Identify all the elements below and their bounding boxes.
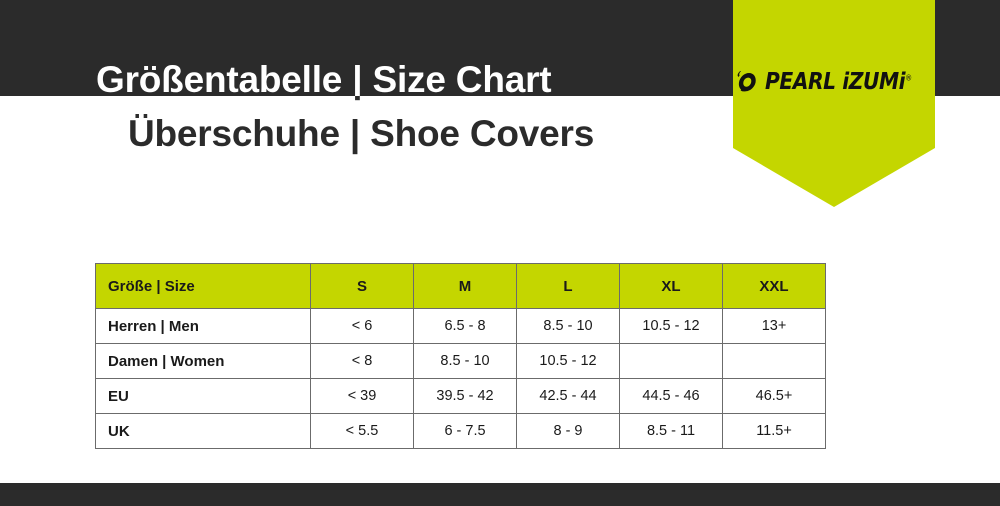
cell-uk-l: 8 - 9 xyxy=(517,414,620,449)
table-row: EU < 39 39.5 - 42 42.5 - 44 44.5 - 46 46… xyxy=(96,379,826,414)
cell-uk-s: < 5.5 xyxy=(311,414,414,449)
cell-men-l: 8.5 - 10 xyxy=(517,309,620,344)
size-chart-page: PEARL iZUMi® Größentabelle | Size Chart … xyxy=(0,0,1000,506)
title-block: Größentabelle | Size Chart Größentabelle… xyxy=(0,0,1000,180)
cell-eu-xl: 44.5 - 46 xyxy=(620,379,723,414)
cell-eu-xxl: 46.5+ xyxy=(723,379,826,414)
footer-dark-band xyxy=(0,483,1000,506)
table-header-cell-xl: XL xyxy=(620,264,723,309)
table-row: Damen | Women < 8 8.5 - 10 10.5 - 12 xyxy=(96,344,826,379)
table-header-cell-l: L xyxy=(517,264,620,309)
cell-women-l: 10.5 - 12 xyxy=(517,344,620,379)
cell-uk-xxl: 11.5+ xyxy=(723,414,826,449)
row-label-men: Herren | Men xyxy=(96,309,311,344)
table-header-row: Größe | Size S M L XL XXL xyxy=(96,264,826,309)
cell-eu-l: 42.5 - 44 xyxy=(517,379,620,414)
row-label-eu: EU xyxy=(96,379,311,414)
cell-women-xxl xyxy=(723,344,826,379)
table-header-cell-m: M xyxy=(414,264,517,309)
cell-uk-xl: 8.5 - 11 xyxy=(620,414,723,449)
cell-women-s: < 8 xyxy=(311,344,414,379)
table-row: Herren | Men < 6 6.5 - 8 8.5 - 10 10.5 -… xyxy=(96,309,826,344)
cell-women-m: 8.5 - 10 xyxy=(414,344,517,379)
size-chart-table: Größe | Size S M L XL XXL Herren | Men <… xyxy=(95,263,826,449)
table-header: Größe | Size S M L XL XXL xyxy=(96,264,826,309)
page-title-secondary: Überschuhe | Shoe Covers xyxy=(128,112,594,156)
table-header-cell-xxl: XXL xyxy=(723,264,826,309)
page-title-primary-white: Größentabelle | Size Chart xyxy=(96,58,551,102)
table-header-cell-s: S xyxy=(311,264,414,309)
cell-men-s: < 6 xyxy=(311,309,414,344)
row-label-women: Damen | Women xyxy=(96,344,311,379)
cell-eu-s: < 39 xyxy=(311,379,414,414)
cell-women-xl xyxy=(620,344,723,379)
cell-eu-m: 39.5 - 42 xyxy=(414,379,517,414)
table-header-cell-label: Größe | Size xyxy=(96,264,311,309)
cell-men-xl: 10.5 - 12 xyxy=(620,309,723,344)
cell-uk-m: 6 - 7.5 xyxy=(414,414,517,449)
row-label-uk: UK xyxy=(96,414,311,449)
cell-men-m: 6.5 - 8 xyxy=(414,309,517,344)
cell-men-xxl: 13+ xyxy=(723,309,826,344)
table-row: UK < 5.5 6 - 7.5 8 - 9 8.5 - 11 11.5+ xyxy=(96,414,826,449)
table-body: Herren | Men < 6 6.5 - 8 8.5 - 10 10.5 -… xyxy=(96,309,826,449)
